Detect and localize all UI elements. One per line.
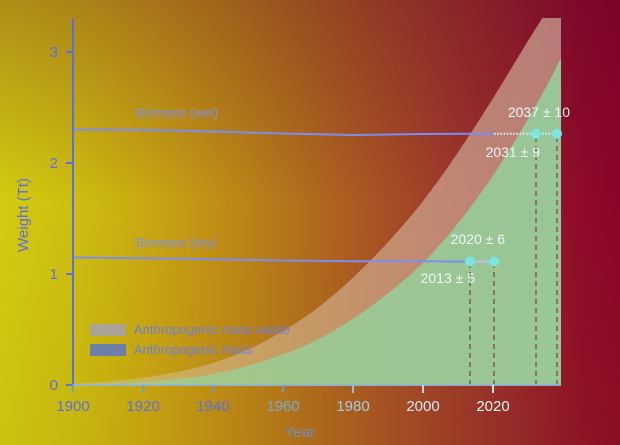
legend-label-anthropogenic-mass: Anthropogenic mass	[134, 342, 253, 357]
annotation-2013: 2013 ± 5	[421, 270, 476, 286]
annotation-2031: 2031 ± 9	[486, 144, 541, 160]
y-tick-label-1: 1	[50, 266, 58, 283]
marker-2013[interactable]	[465, 257, 475, 267]
line-biomass-wet	[73, 130, 494, 136]
y-axis-title: Weight (Tt)	[15, 178, 32, 252]
annotation-2020: 2020 ± 6	[451, 231, 506, 247]
legend-label-anthropogenic-mass-waste: Anthropogenic mass waste	[134, 322, 290, 337]
x-tick-label-2000: 2000	[406, 398, 439, 415]
y-tick-label-2: 2	[50, 155, 58, 172]
x-tick-label-1920: 1920	[126, 398, 159, 415]
marker-2020[interactable]	[489, 257, 499, 267]
y-tick-label-3: 3	[50, 44, 58, 61]
x-tick-label-2020: 2020	[476, 398, 509, 415]
x-axis-title: Year	[285, 424, 315, 441]
series-label-biomass-dry: Biomass (dry)	[136, 235, 216, 250]
marker-2031[interactable]	[531, 129, 541, 139]
legend-swatch-anthropogenic-mass-waste	[90, 324, 126, 336]
x-tick-label-1900: 1900	[56, 398, 89, 415]
y-tick-label-0: 0	[50, 377, 58, 394]
annotation-2037: 2037 ± 10	[508, 104, 570, 120]
series-label-biomass-wet: Biomass (wet)	[136, 105, 218, 120]
chart-container: 3 2 1 0 1900 1920 1940 1960 1980 2000 20…	[0, 0, 620, 445]
legend-swatch-anthropogenic-mass	[90, 344, 126, 356]
x-tick-label-1940: 1940	[196, 398, 229, 415]
marker-2037[interactable]	[552, 129, 562, 139]
x-tick-label-1960: 1960	[266, 398, 299, 415]
x-tick-label-1980: 1980	[336, 398, 369, 415]
chart-plot: 3 2 1 0 1900 1920 1940 1960 1980 2000 20…	[0, 0, 620, 445]
